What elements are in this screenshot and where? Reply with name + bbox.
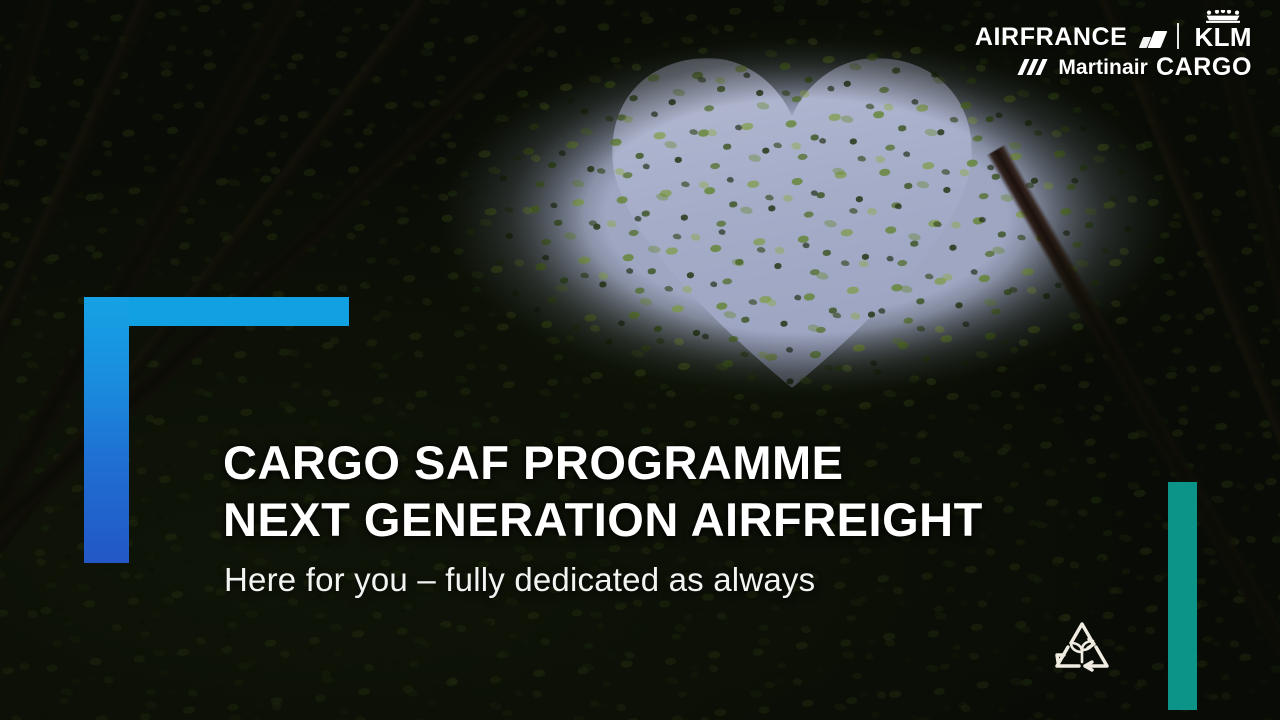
klm-wordmark: KLM xyxy=(1194,24,1252,50)
cargo-wordmark: CARGO xyxy=(1156,55,1252,80)
airfrance-klm-martinair-cargo-logo: AIRFRANCE KLM xyxy=(974,16,1252,80)
slide-canvas: AIRFRANCE KLM xyxy=(0,0,1280,720)
martinair-stripes-icon xyxy=(1020,59,1050,75)
logo-row-martinair-cargo: Martinair CARGO xyxy=(974,54,1252,80)
bracket-vertical-arm xyxy=(84,297,129,563)
logo-row-airfrance-klm: AIRFRANCE KLM xyxy=(974,16,1252,50)
airfrance-wordmark: AIRFRANCE xyxy=(975,25,1128,50)
airfrance-swoosh-icon xyxy=(1138,31,1164,48)
headline-line-1: CARGO SAF PROGRAMME xyxy=(223,434,1123,491)
headline-subtitle: Here for you – fully dedicated as always xyxy=(224,559,815,601)
headline-line-2: NEXT GENERATION AIRFREIGHT xyxy=(223,491,1123,548)
martinair-wordmark: Martinair xyxy=(1058,57,1148,78)
teal-accent-bar xyxy=(1168,482,1197,710)
logo-divider xyxy=(1177,23,1179,49)
headline-block: CARGO SAF PROGRAMME NEXT GENERATION AIRF… xyxy=(223,434,1123,548)
klm-lockup: KLM xyxy=(1194,10,1252,50)
recycle-plant-icon xyxy=(1044,614,1120,690)
